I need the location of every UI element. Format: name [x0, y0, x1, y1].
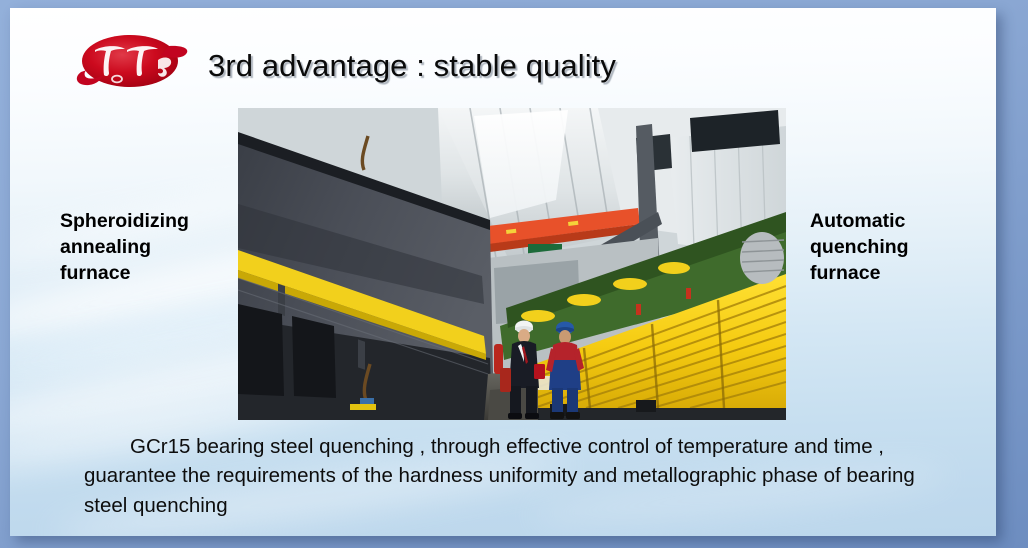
page-title: 3rd advantage : stable quality: [208, 48, 616, 84]
label-spheroidizing-annealing-furnace: Spheroidizing annealing furnace: [60, 208, 240, 286]
label-automatic-quenching-furnace: Automatic quenching furnace: [810, 208, 990, 286]
slide-frame: 3rd advantage : stable quality Spheroidi…: [0, 0, 1028, 548]
company-logo-icon: [73, 30, 193, 92]
slide-canvas: 3rd advantage : stable quality Spheroidi…: [10, 8, 996, 536]
body-paragraph: GCr15 bearing steel quenching , through …: [84, 432, 944, 520]
factory-photo: [238, 108, 786, 420]
slide-header: 3rd advantage : stable quality: [10, 8, 996, 94]
